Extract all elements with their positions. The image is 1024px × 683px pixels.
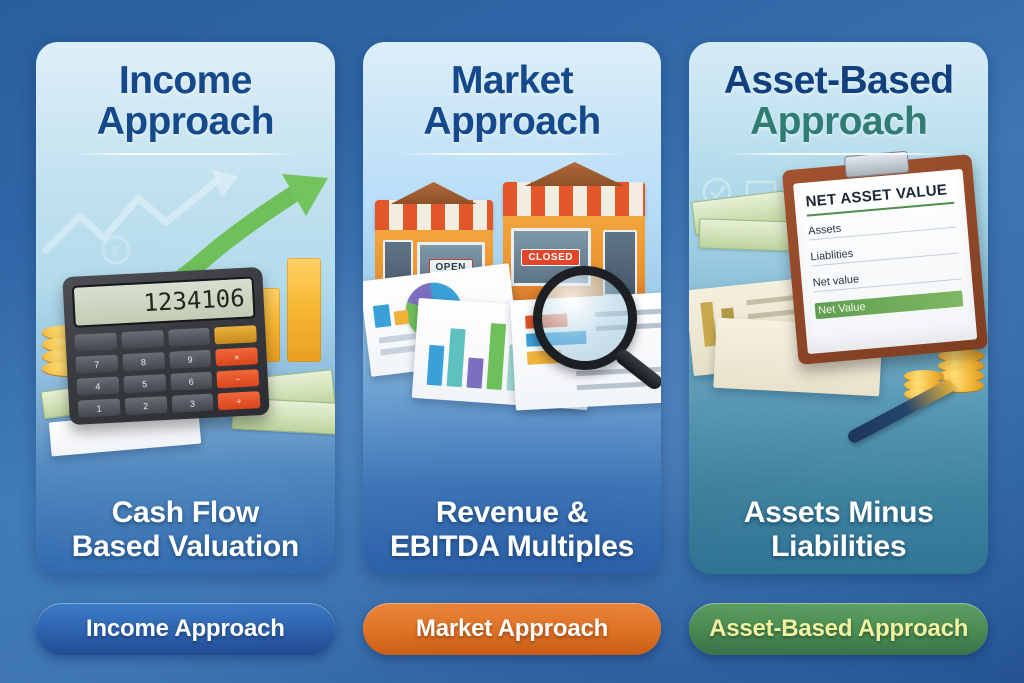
- clipboard-page: NET ASSET VALUE Assets Liablities Net va…: [793, 169, 977, 354]
- storefront-awning: [375, 200, 493, 230]
- card-asset-based-approach[interactable]: Asset-Based Approach: [689, 42, 988, 574]
- card-income-caption-line2: Based Valuation: [36, 530, 335, 564]
- card-income-title-line1: Income: [50, 60, 321, 101]
- net-asset-value-title: NET ASSET VALUE: [805, 181, 954, 211]
- clipboard-row-assets: Assets: [808, 213, 957, 241]
- card-income-caption-line1: Cash Flow: [36, 496, 335, 530]
- card-asset-illustration: NET ASSET VALUE Assets Liablities Net va…: [689, 154, 988, 454]
- card-market-title-line1: Market: [377, 60, 648, 101]
- card-market-caption: Revenue & EBITDA Multiples: [363, 496, 662, 564]
- calculator-key[interactable]: [74, 333, 117, 352]
- card-market-illustration: OPEN CLOSED: [363, 154, 662, 454]
- card-market-header: Market Approach: [363, 42, 662, 155]
- calculator[interactable]: 1234106 7 8 9 × 4 5 6 − 1: [62, 267, 269, 425]
- calculator-key[interactable]: −: [217, 369, 260, 388]
- calculator-key[interactable]: 1: [78, 399, 121, 418]
- pill-market-approach[interactable]: Market Approach: [363, 603, 662, 655]
- card-asset-title-line1: Asset-Based: [703, 60, 974, 101]
- calculator-key[interactable]: ×: [215, 347, 258, 366]
- calculator-key[interactable]: 7: [75, 355, 118, 374]
- svg-text:$: $: [111, 243, 119, 259]
- calculator-key[interactable]: 3: [171, 394, 214, 413]
- calculator-key[interactable]: [168, 328, 211, 347]
- clipboard[interactable]: NET ASSET VALUE Assets Liablities Net va…: [782, 154, 988, 365]
- calculator-key[interactable]: [214, 325, 257, 344]
- calculator-key[interactable]: 8: [122, 352, 165, 371]
- calculator-key[interactable]: [121, 330, 164, 349]
- pill-asset-based-approach[interactable]: Asset-Based Approach: [689, 603, 988, 655]
- calculator-keypad[interactable]: 7 8 9 × 4 5 6 − 1 2 3 +: [74, 325, 260, 417]
- calculator-key[interactable]: 9: [169, 350, 212, 369]
- storefront-roof: [525, 162, 625, 186]
- calculator-key[interactable]: 2: [124, 396, 167, 415]
- card-market-approach[interactable]: Market Approach OPEN: [363, 42, 662, 574]
- card-income-title-line2: Approach: [50, 101, 321, 142]
- card-asset-caption: Assets Minus Liabilities: [689, 496, 988, 564]
- pill-income-approach[interactable]: Income Approach: [36, 603, 335, 655]
- card-market-caption-line1: Revenue &: [363, 496, 662, 530]
- card-asset-header: Asset-Based Approach: [689, 42, 988, 155]
- approach-card-row: Income Approach $: [36, 42, 988, 574]
- card-income-divider: [72, 153, 299, 155]
- card-asset-divider: [725, 153, 952, 155]
- card-market-title-line2: Approach: [377, 101, 648, 142]
- calculator-key[interactable]: 6: [170, 372, 213, 391]
- card-income-header: Income Approach: [36, 42, 335, 155]
- clipboard-row-net-value-highlighted: Net Value: [815, 290, 964, 319]
- card-asset-caption-line1: Assets Minus: [689, 496, 988, 530]
- clipboard-row-net-value: Net value: [812, 265, 961, 293]
- closed-sign: CLOSED: [521, 249, 580, 266]
- card-market-caption-line2: EBITDA Multiples: [363, 530, 662, 564]
- card-income-caption: Cash Flow Based Valuation: [36, 496, 335, 564]
- card-income-illustration: $: [36, 154, 335, 454]
- clipboard-row-liabilities: Liablities: [810, 239, 959, 267]
- card-income-approach[interactable]: Income Approach $: [36, 42, 335, 574]
- cash-stack-2: [699, 218, 798, 251]
- storefront-awning: [503, 182, 645, 216]
- magnifying-glass-icon: [533, 266, 637, 370]
- calculator-display: 1234106: [72, 276, 256, 327]
- storefront-roof: [391, 182, 477, 204]
- card-asset-title-line2: Approach: [703, 101, 974, 142]
- calculator-key[interactable]: 5: [123, 374, 166, 393]
- approach-pill-row: Income Approach Market Approach Asset-Ba…: [36, 603, 988, 655]
- valuation-approaches-infographic: Income Approach $: [0, 0, 1024, 683]
- calculator-key[interactable]: +: [218, 391, 261, 410]
- card-asset-caption-line2: Liabilities: [689, 530, 988, 564]
- card-market-divider: [398, 153, 625, 155]
- calculator-key[interactable]: 4: [77, 377, 120, 396]
